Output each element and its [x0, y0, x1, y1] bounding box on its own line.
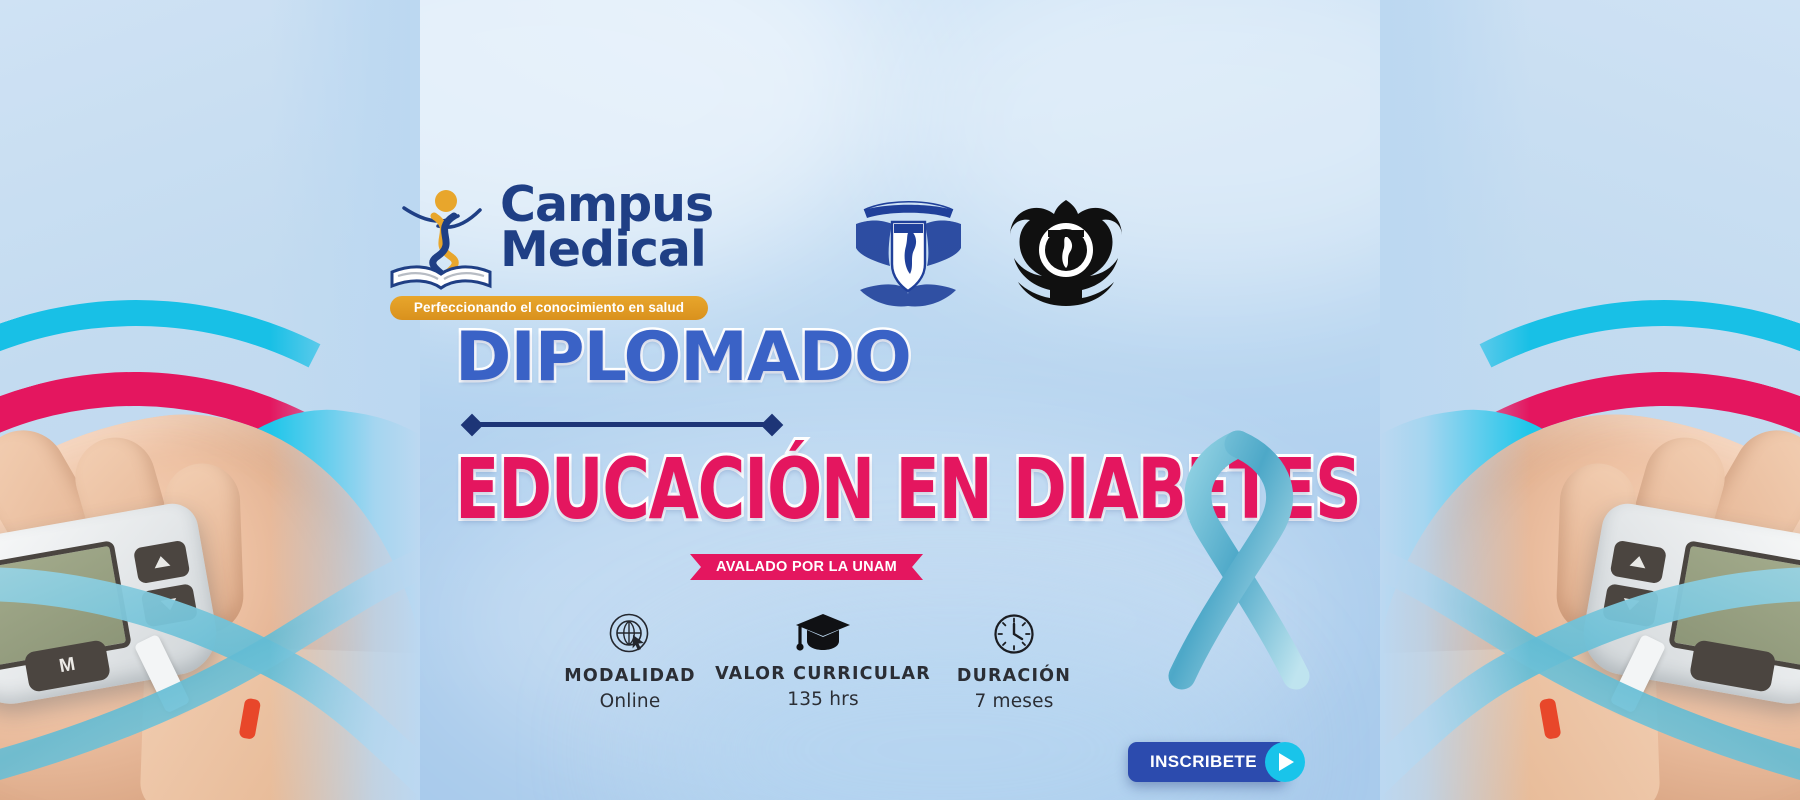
campus-medical-dna-book-icon — [388, 186, 494, 294]
info-value: Online — [545, 691, 715, 712]
info-item-valor-curricular: VALOR CURRICULAR 135 hrs — [711, 610, 935, 710]
logo-line-2: Medical — [500, 227, 713, 272]
arrow-triangle — [1279, 753, 1294, 771]
title-divider — [462, 415, 782, 433]
graduation-cap-icon — [711, 610, 935, 654]
info-item-modalidad: MODALIDAD Online — [545, 612, 715, 712]
accreditation-seals — [846, 190, 1166, 315]
clock-icon — [929, 612, 1099, 656]
hero-kicker: DIPLOMADO — [0, 318, 1800, 397]
hero-title: EDUCACIÓN EN DIABETES — [455, 440, 1508, 538]
info-value: 135 hrs — [711, 689, 935, 710]
unam-facultad-medicina-eagle-seal — [1004, 190, 1129, 315]
divider-bar — [472, 422, 772, 427]
info-value: 7 meses — [929, 691, 1099, 712]
diamond-right-icon — [761, 414, 784, 437]
info-label: DURACIÓN — [929, 666, 1099, 686]
accreditation-badge: AVALADO POR LA UNAM — [690, 554, 923, 580]
inscribete-button[interactable]: INSCRIBETE — [1128, 742, 1305, 782]
unam-shield-seal — [846, 190, 971, 315]
promo-banner: M — [0, 0, 1800, 800]
diabetes-awareness-ribbon — [1146, 420, 1336, 710]
logo-wordmark: Campus Medical — [500, 182, 713, 272]
inscribete-button-label[interactable]: INSCRIBETE — [1128, 742, 1287, 782]
info-item-duracion: DURACIÓN 7 meses — [929, 612, 1099, 712]
info-label: MODALIDAD — [545, 666, 715, 686]
course-info-row: MODALIDAD Online VALOR CURRICULAR 135 hr… — [545, 600, 1065, 740]
play-arrow-icon[interactable] — [1265, 742, 1305, 782]
globe-cursor-icon — [545, 612, 715, 656]
hero-kicker-text: DIPLOMADO — [455, 318, 911, 397]
banner-content: Campus Medical Perfeccionando el conocim… — [0, 0, 1800, 800]
brand-tagline: Perfeccionando el conocimiento en salud — [390, 296, 708, 320]
campus-medical-logo: Campus Medical Perfeccionando el conocim… — [388, 186, 718, 306]
info-label: VALOR CURRICULAR — [711, 664, 935, 684]
